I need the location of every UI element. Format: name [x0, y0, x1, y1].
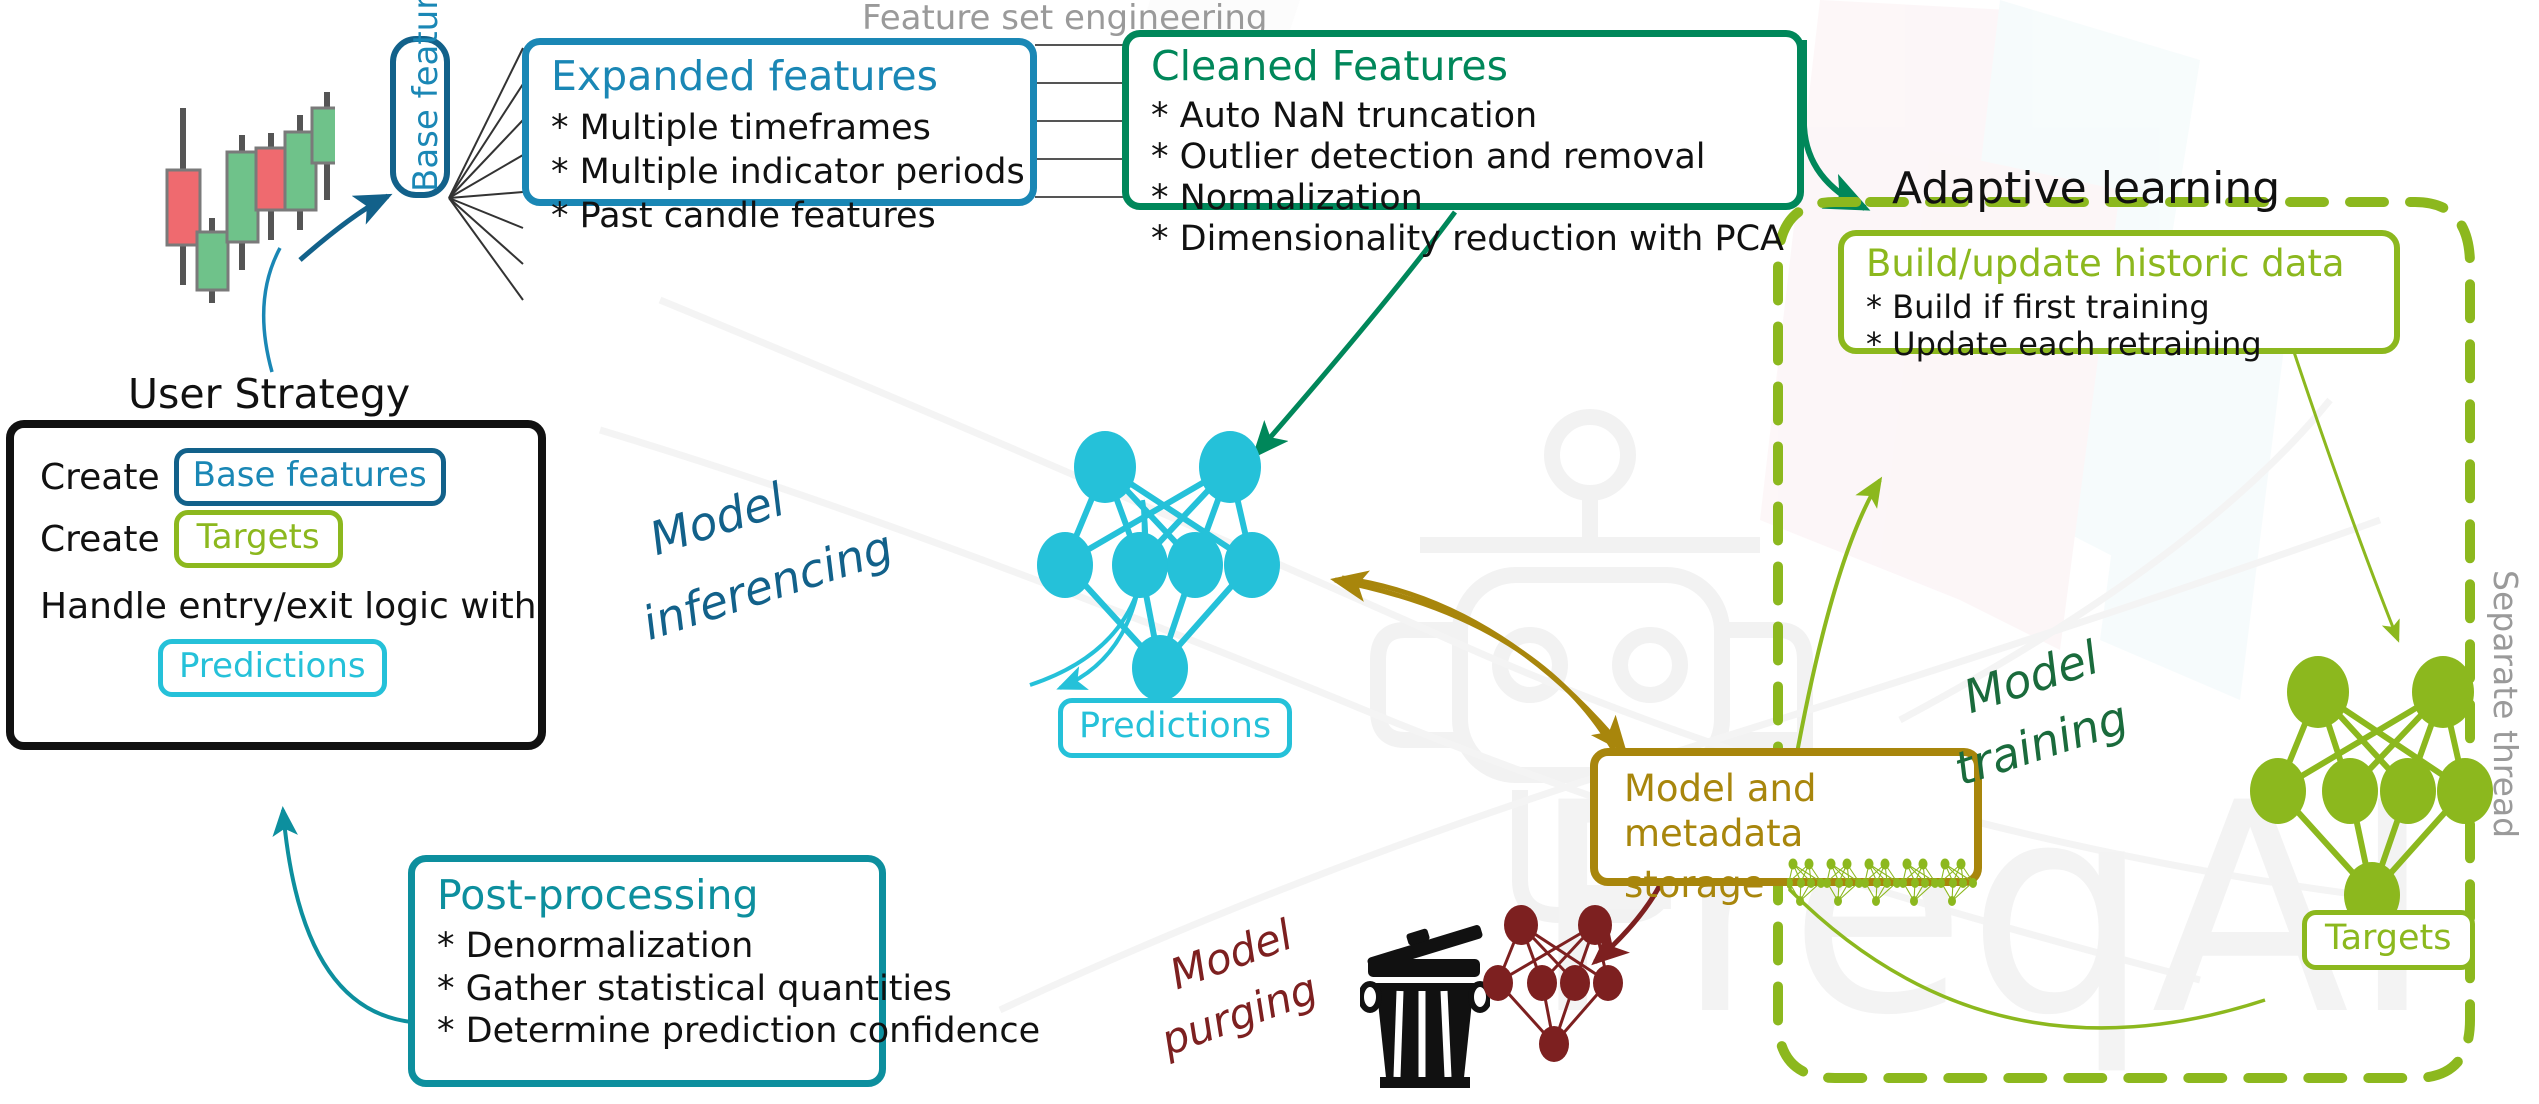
- cleaned-features-item: * Dimensionality reduction with PCA: [1151, 219, 1777, 260]
- base-features-pill[interactable]: Base features: [390, 36, 450, 198]
- predictions-pill[interactable]: Predictions: [1058, 698, 1292, 758]
- inference-neural-network-icon: [1030, 425, 1305, 705]
- arrow-postprocessing-to-strategy: [283, 810, 412, 1022]
- cleaned-features-title: Cleaned Features: [1151, 45, 1777, 88]
- strategy-base-features-pill[interactable]: Base features: [174, 448, 446, 506]
- base-features-pill-label: Base features: [406, 0, 446, 192]
- build-update-list: * Build if first training * Update each …: [1866, 289, 2394, 364]
- expanded-features-item: * Multiple timeframes: [551, 106, 1010, 150]
- build-update-item: * Build if first training: [1866, 289, 2394, 326]
- expanded-features-item: * Past candle features: [551, 194, 1010, 238]
- expanded-features-box[interactable]: Expanded features * Multiple timeframes …: [522, 38, 1037, 206]
- cleaned-features-item: * Normalization: [1151, 178, 1777, 219]
- expanded-features-list: * Multiple timeframes * Multiple indicat…: [551, 106, 1010, 238]
- arrow-build-to-training: [2290, 340, 2398, 640]
- strategy-entry-exit-text: Handle entry/exit logic with: [40, 586, 538, 627]
- candlestick-chart-icon: [155, 80, 335, 320]
- storage-line-2: storage: [1624, 863, 1765, 906]
- rung-lines-expanded-to-cleaned: [1035, 45, 1125, 197]
- build-update-item: * Update each retraining: [1866, 326, 2394, 363]
- user-strategy-box[interactable]: Create Base features Create Targets Hand…: [6, 420, 546, 750]
- expanded-features-item: * Multiple indicator periods: [551, 150, 1010, 194]
- cleaned-features-item: * Auto NaN truncation: [1151, 96, 1777, 137]
- strategy-create-label-2: Create: [40, 519, 160, 560]
- diagram-canvas: FreqAI: [0, 0, 2539, 1104]
- post-processing-item: * Determine prediction confidence: [437, 1010, 861, 1053]
- neural-network-stack-icon: [1787, 856, 1987, 912]
- arrow-storage-to-inference: [1335, 580, 1615, 752]
- cleaned-features-list: * Auto NaN truncation * Outlier detectio…: [1151, 96, 1777, 260]
- model-metadata-storage-box[interactable]: Model and metadata storage: [1590, 748, 1982, 886]
- post-processing-item: * Denormalization: [437, 925, 861, 968]
- trash-can-icon: [1360, 905, 1490, 1095]
- strategy-targets-pill[interactable]: Targets: [174, 510, 343, 568]
- storage-line-1: Model and metadata: [1624, 766, 1974, 856]
- strategy-create-label-1: Create: [40, 457, 160, 498]
- post-processing-list: * Denormalization * Gather statistical q…: [437, 925, 861, 1053]
- strategy-predictions-pill[interactable]: Predictions: [158, 639, 387, 697]
- separate-thread-label: Separate thread: [2486, 570, 2525, 838]
- post-processing-title: Post-processing: [437, 874, 861, 917]
- strategy-row-targets: Create Targets: [40, 508, 538, 570]
- cleaned-features-item: * Outlier detection and removal: [1151, 137, 1777, 178]
- fan-lines-base-to-expanded: [449, 48, 523, 300]
- build-update-historic-data-box[interactable]: Build/update historic data * Build if fi…: [1838, 230, 2400, 354]
- build-update-title: Build/update historic data: [1866, 244, 2394, 285]
- arrow-inference-to-storage: [1342, 578, 1624, 750]
- expanded-features-title: Expanded features: [551, 55, 1010, 98]
- arrow-storage-to-build-update: [1790, 480, 1880, 792]
- user-strategy-title: User Strategy: [128, 370, 410, 418]
- cleaned-features-box[interactable]: Cleaned Features * Auto NaN truncation *…: [1122, 30, 1804, 210]
- strategy-row-base-features: Create Base features: [40, 446, 538, 508]
- purging-neural-network-icon: [1478, 900, 1638, 1065]
- post-processing-item: * Gather statistical quantities: [437, 968, 861, 1011]
- targets-pill[interactable]: Targets: [2302, 910, 2475, 970]
- training-neural-network-icon: [2250, 650, 2515, 930]
- adaptive-learning-title: Adaptive learning: [1892, 163, 2280, 214]
- strategy-predictions-row: Predictions: [40, 639, 538, 697]
- post-processing-box[interactable]: Post-processing * Denormalization * Gath…: [408, 855, 886, 1087]
- arrow-cleaned-to-adaptive: [1804, 40, 1865, 208]
